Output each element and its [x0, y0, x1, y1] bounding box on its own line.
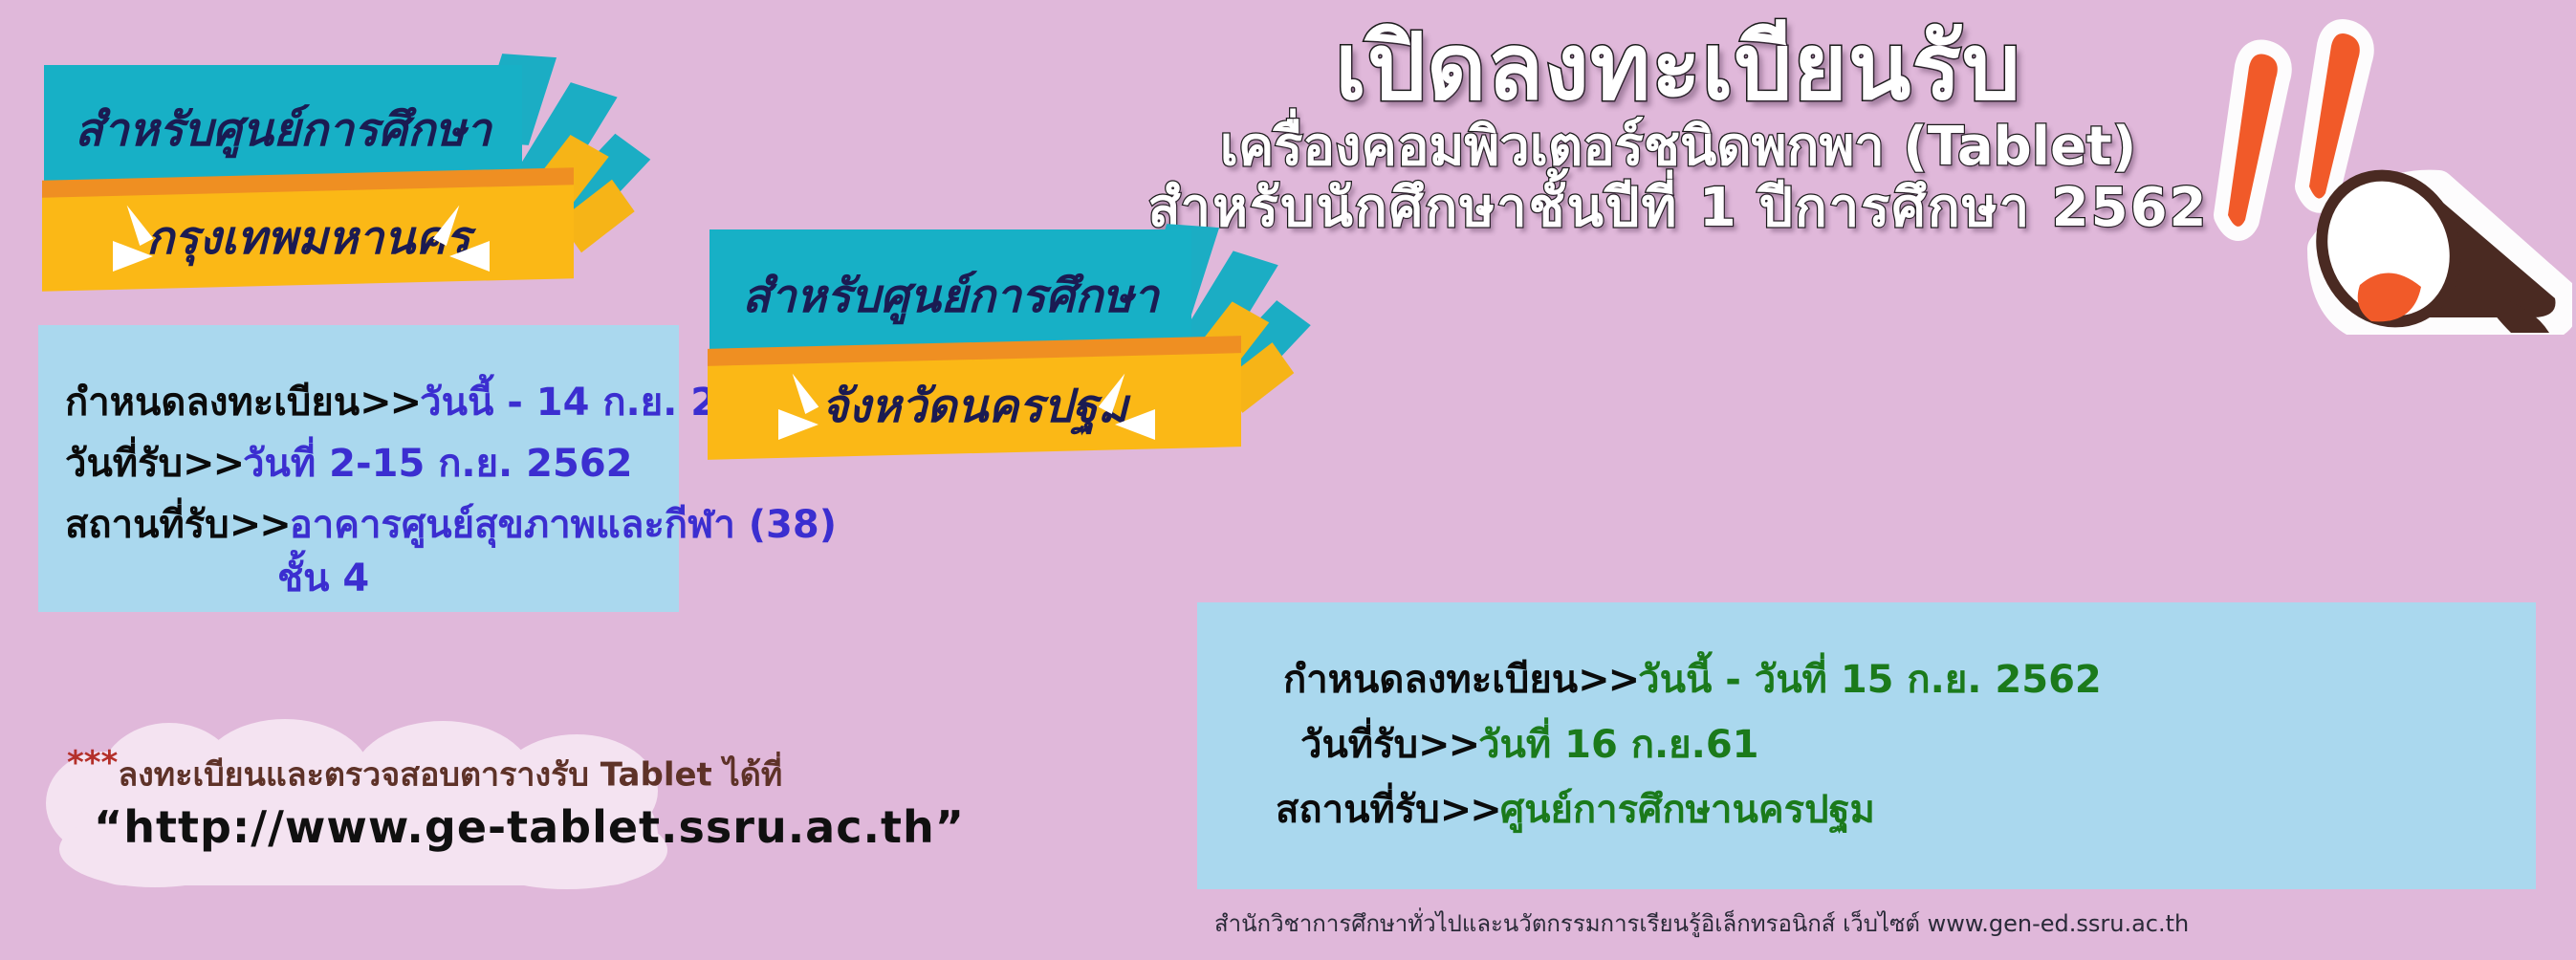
left-info-row-3: สถานที่รับ>>อาคารศูนย์สุขภาพและกีฬา (38): [65, 493, 837, 555]
right-info-row-2-label: วันที่รับ: [1300, 723, 1418, 767]
left-banner-yellow: กรุงเทพมหานคร: [42, 185, 574, 292]
right-info-row-3-sep: >>: [1440, 788, 1500, 832]
right-info-row-2-sep: >>: [1418, 723, 1478, 767]
poster-canvas: เปิดลงทะเบียนรับ เครื่องคอมพิวเตอร์ชนิดพ…: [0, 0, 2576, 960]
left-info-row-1-sep: >>: [360, 381, 420, 425]
right-info-row-3-value: ศูนย์การศึกษานครปฐม: [1500, 788, 1875, 832]
left-info-row-2-label: วันที่รับ: [65, 442, 183, 486]
left-info-row-3-value-line2: ชั้น 4: [277, 547, 369, 608]
right-info-row-3-label: สถานที่รับ: [1276, 788, 1440, 832]
right-info-row-1: กำหนดลงทะเบียน>>วันนี้ - วันที่ 15 ก.ย. …: [1283, 648, 2102, 709]
right-banner-teal-label: สำหรับศูนย์การศึกษา: [742, 260, 1158, 333]
note-text: ลงทะเบียนและตรวจสอบตารางรับ Tablet ได้ที…: [118, 755, 782, 794]
left-info-row-3-value: อาคารศูนย์สุขภาพและกีฬา (38): [290, 503, 837, 547]
right-info-box: กำหนดลงทะเบียน>>วันนี้ - วันที่ 15 ก.ย. …: [1197, 602, 2536, 889]
footer-text: สำนักวิชาการศึกษาทั่วไปและนวัตกรรมการเรี…: [1214, 905, 2553, 942]
arrow-left-icon: [449, 241, 490, 272]
right-info-row-1-sep: >>: [1578, 658, 1638, 702]
left-banner-teal-label: สำหรับศูนย์การศึกษา: [75, 94, 491, 166]
right-info-row-2: วันที่รับ>>วันที่ 16 ก.ย.61: [1300, 713, 1758, 775]
arrow-right-icon-2: [778, 409, 819, 440]
right-banner-yellow: จังหวัดนครปฐม: [708, 353, 1241, 460]
right-banner-yellow-label: จังหวัดนครปฐม: [821, 370, 1128, 443]
left-info-row-2: วันที่รับ>>วันที่ 2-15 ก.ย. 2562: [65, 432, 633, 493]
left-info-row-1: กำหนดลงทะเบียน>>วันนี้ - 14 ก.ย. 2562: [65, 371, 797, 432]
left-info-row-3-label: สถานที่รับ: [65, 503, 229, 547]
right-info-row-1-value: วันนี้ - วันที่ 15 ก.ย. 2562: [1638, 658, 2102, 702]
note-stars: ***: [67, 744, 118, 782]
right-info-row-3: สถานที่รับ>>ศูนย์การศึกษานครปฐม: [1276, 778, 1875, 840]
arrow-left-icon-2: [1115, 409, 1155, 440]
right-info-row-1-label: กำหนดลงทะเบียน: [1283, 658, 1578, 702]
left-info-row-1-label: กำหนดลงทะเบียน: [65, 381, 360, 425]
left-info-row-3-sep: >>: [229, 503, 290, 547]
note-text-row: ***ลงทะเบียนและตรวจสอบตารางรับ Tablet ได…: [67, 744, 782, 799]
left-info-row-2-value: วันที่ 2-15 ก.ย. 2562: [243, 442, 632, 486]
left-info-box: กำหนดลงทะเบียน>>วันนี้ - 14 ก.ย. 2562 วั…: [38, 325, 679, 612]
left-info-row-2-sep: >>: [183, 442, 243, 486]
arrow-right-icon: [113, 241, 153, 272]
right-info-row-2-value: วันที่ 16 ก.ย.61: [1478, 723, 1758, 767]
megaphone-icon: [2085, 10, 2572, 335]
note-url[interactable]: “http://www.ge-tablet.ssru.ac.th”: [94, 801, 965, 853]
left-banner-yellow-label: กรุงเทพมหานคร: [146, 202, 470, 274]
